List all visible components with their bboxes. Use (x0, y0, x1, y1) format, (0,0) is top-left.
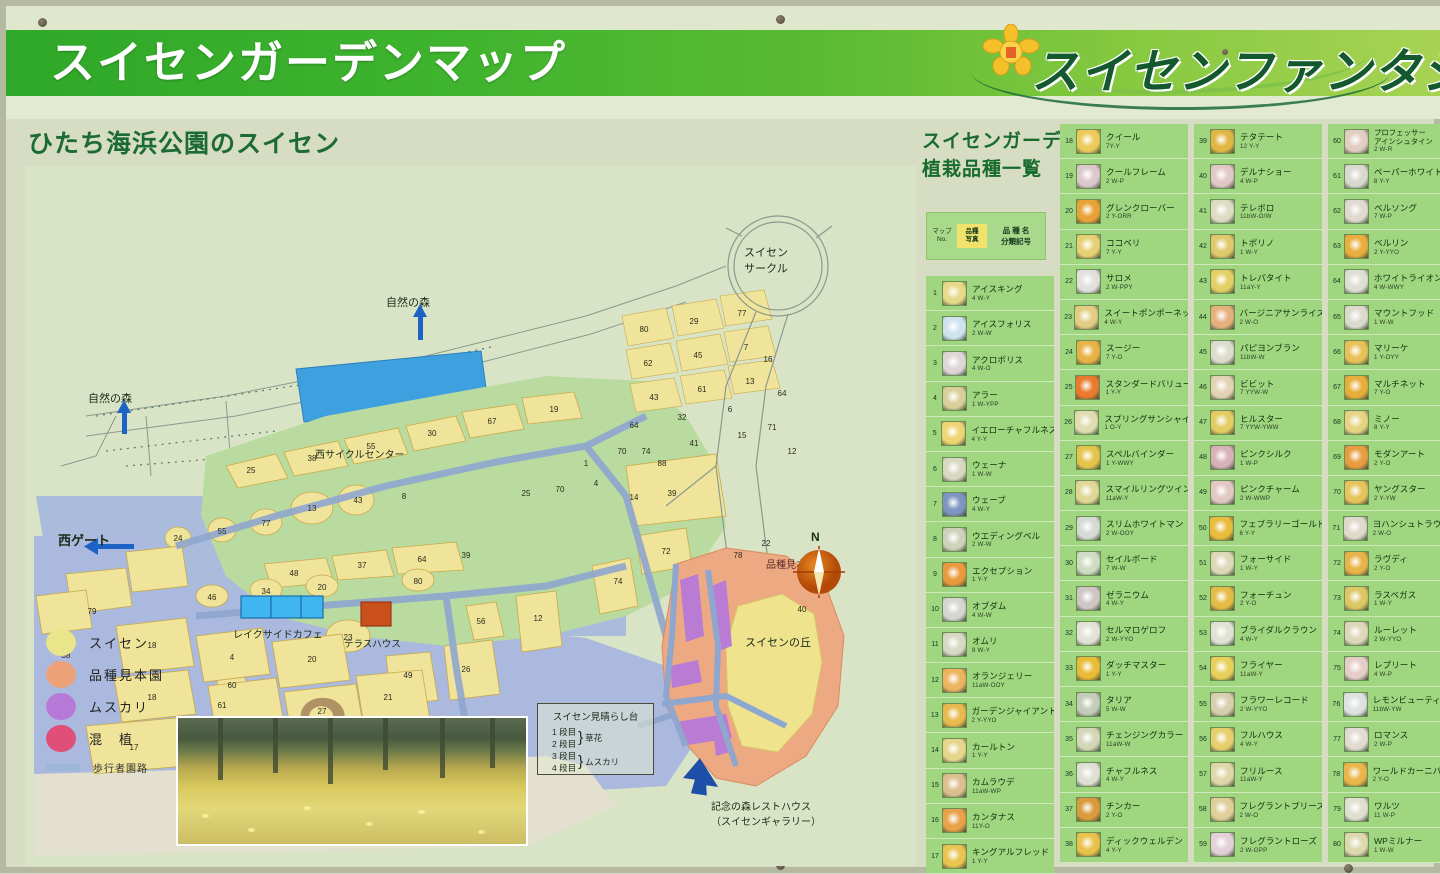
map-label-lakeside-cafe: レイクサイドカフェ (233, 626, 323, 641)
variety-photo-thumbnail (1210, 269, 1235, 294)
variety-info: フレグラントブリーズ2 W-O (1240, 801, 1323, 819)
variety-row: 67マルチネット7 Y-O (1328, 370, 1440, 405)
variety-info: スイートポンポーネット4 W-Y (1104, 308, 1188, 326)
variety-name: ディックウェルデン (1106, 836, 1183, 847)
variety-classification-code: 11aW-Y (1240, 671, 1283, 678)
map-label-terrace-house: テラスハウス (344, 636, 401, 650)
variety-classification-code: 1 W-Y (1374, 600, 1416, 607)
variety-photo-thumbnail (1076, 621, 1101, 646)
variety-info: ヨハンシュトラウス2 W-O (1373, 519, 1440, 537)
svg-text:46: 46 (208, 593, 217, 602)
variety-map-no: 1 (928, 290, 942, 297)
deck-row-label: 草花 (585, 732, 602, 744)
variety-info: ヤングスター2 Y-YW (1374, 484, 1426, 502)
variety-list-panel: スイセンガーデン 植栽品種一覧 マップNo. 品種写真 品 種 名分類記号 1ア… (918, 124, 1440, 869)
variety-photo-thumbnail (942, 844, 967, 869)
variety-row: 78ワールドカーニバル2 Y-O (1328, 757, 1440, 792)
variety-photo-thumbnail (1210, 480, 1235, 505)
variety-classification-code: 4 W-P (1374, 671, 1417, 678)
variety-map-no: 61 (1330, 173, 1344, 180)
svg-text:26: 26 (462, 665, 471, 674)
variety-classification-code: 2 W-PPY (1106, 284, 1133, 291)
variety-name: ウェーブ (972, 495, 1006, 506)
variety-photo-thumbnail (1076, 445, 1101, 470)
variety-name: ベルリン (1374, 238, 1408, 249)
variety-row: 30セイルボード7 W-W (1060, 546, 1188, 581)
variety-photo-thumbnail (1076, 199, 1101, 224)
compass-rose: N (791, 544, 847, 600)
variety-map-no: 16 (928, 817, 942, 824)
deck-step-a: 1 段目 (552, 726, 576, 738)
variety-info: チェンジングカラー11aW-W (1106, 730, 1183, 748)
svg-text:25: 25 (247, 466, 256, 475)
variety-photo-thumbnail (1076, 516, 1101, 541)
intro-heading: ひたち海浜公園のスイセン (28, 124, 608, 160)
variety-map-no: 27 (1062, 454, 1076, 461)
variety-map-no: 17 (928, 853, 942, 860)
variety-photo-thumbnail (1344, 832, 1369, 857)
variety-row: 68ミノー8 Y-Y (1328, 406, 1440, 441)
variety-classification-code: 1 Y-OYY (1374, 354, 1408, 361)
variety-map-no: 25 (1062, 384, 1075, 391)
variety-map-no: 69 (1330, 454, 1344, 461)
variety-row: 21ココベリ7 Y-Y (1060, 230, 1188, 265)
svg-text:78: 78 (734, 551, 743, 560)
variety-name: マリーケ (1374, 343, 1408, 354)
variety-map-no: 31 (1062, 595, 1076, 602)
variety-photo-thumbnail (1210, 340, 1235, 365)
variety-row: 23スイートポンポーネット4 W-Y (1060, 300, 1188, 335)
variety-photo-thumbnail (1210, 621, 1235, 646)
variety-map-no: 43 (1196, 278, 1210, 285)
svg-text:30: 30 (428, 429, 437, 438)
variety-photo-thumbnail (1344, 445, 1369, 470)
variety-row: 46ビビット7 YYW-W (1194, 370, 1322, 405)
variety-row: 4アラー1 W-YPP (926, 382, 1054, 417)
variety-row: 34タリア5 W-W (1060, 687, 1188, 722)
variety-map-no: 65 (1330, 314, 1344, 321)
north-arrow-head-icon (413, 304, 427, 317)
variety-name: ワルツ (1374, 801, 1400, 812)
variety-map-no: 2 (928, 325, 942, 332)
variety-name: フライヤー (1240, 660, 1283, 671)
variety-photo-thumbnail (1209, 516, 1234, 541)
variety-info: パピヨンブラン11bW-W (1240, 343, 1300, 361)
variety-photo-thumbnail (1210, 551, 1235, 576)
variety-name: トポリノ (1240, 238, 1274, 249)
variety-info: オムリ8 W-Y (972, 636, 998, 654)
variety-info: ベルソング7 W-P (1374, 203, 1417, 221)
garden-photo (176, 716, 528, 846)
variety-classification-code: 1 Y-Y (1106, 671, 1166, 678)
svg-text:55: 55 (218, 527, 227, 536)
variety-photo-thumbnail (1344, 129, 1369, 154)
north-arrow-stem-icon (418, 314, 423, 340)
variety-name: オムリ (972, 636, 998, 647)
variety-info: スージー7 Y-O (1106, 343, 1140, 361)
variety-photo-thumbnail (1210, 410, 1235, 435)
variety-row: 64ホワイトライオン4 W-WWY (1328, 265, 1440, 300)
svg-text:61: 61 (218, 701, 227, 710)
variety-name: ビビット (1240, 379, 1274, 390)
variety-name: フルハウス (1240, 730, 1283, 741)
variety-classification-code: 2 W-O (1240, 812, 1323, 819)
variety-info: フラワーレコード2 W-YYO (1240, 695, 1309, 713)
variety-classification-code: 2 Y-ORR (1106, 213, 1175, 220)
variety-map-no: 10 (928, 606, 942, 613)
variety-classification-code: 2 W-R (1374, 146, 1433, 153)
variety-name: デルナショー (1240, 167, 1292, 178)
deck-row: 1 段目 2 段目 } 草花 (544, 726, 647, 750)
variety-row: 50フェブラリーゴールド6 Y-Y (1194, 511, 1322, 546)
variety-row: 72ラヴディ2 Y-O (1328, 546, 1440, 581)
variety-photo-thumbnail (1344, 656, 1369, 681)
variety-classification-code: 6 Y-Y (1239, 530, 1322, 537)
variety-photo-thumbnail (1344, 234, 1369, 259)
variety-info: アイスキング4 W-Y (972, 284, 1023, 302)
variety-table-key: マップNo. 品種写真 品 種 名分類記号 (926, 212, 1046, 260)
variety-photo-thumbnail (1075, 375, 1100, 400)
variety-photo-thumbnail (1076, 797, 1101, 822)
variety-classification-code: 2 W-W (972, 330, 1031, 337)
legend-label: 歩行者園路 (93, 760, 148, 775)
svg-text:77: 77 (262, 519, 271, 528)
svg-text:71: 71 (768, 423, 777, 432)
variety-photo-thumbnail (1344, 797, 1369, 822)
svg-text:6: 6 (728, 405, 733, 414)
variety-photo-thumbnail (942, 632, 967, 657)
variety-photo-thumbnail (1210, 305, 1235, 330)
variety-classification-code: 7Y-Y (1106, 143, 1140, 150)
variety-info: スタンダードバリュー1 Y-Y (1105, 379, 1188, 397)
north-arrow-head-icon (117, 400, 131, 413)
screw-icon (38, 18, 47, 27)
variety-photo-thumbnail (1076, 832, 1101, 857)
variety-classification-code: 4 W-Y (972, 506, 1006, 513)
variety-info: タリア5 W-W (1106, 695, 1132, 713)
legend-swatch-muscari (46, 693, 76, 720)
variety-map-no: 51 (1196, 560, 1210, 567)
variety-classification-code: 2 W-P (1374, 741, 1408, 748)
deck-step-b: 2 段目 (552, 738, 576, 750)
variety-classification-code: 11aW-OOY (972, 682, 1032, 689)
variety-photo-thumbnail (1210, 797, 1235, 822)
legend-item-hinshu-mihonen: 品種見本園 (46, 658, 216, 690)
variety-classification-code: 2 W-O (1240, 319, 1323, 326)
variety-row: 8ウエディングベル2 W-W (926, 522, 1054, 557)
variety-classification-code: 4 W-Y (972, 295, 1023, 302)
variety-classification-code: 4 W-Y (1240, 636, 1317, 643)
variety-row: 56フルハウス4 W-Y (1194, 722, 1322, 757)
variety-row: 41テレボロ11bW-O/W (1194, 194, 1322, 229)
variety-map-no: 64 (1330, 278, 1344, 285)
variety-classification-code: 4 W-O (972, 365, 1023, 372)
variety-info: アラー1 W-YPP (972, 390, 999, 408)
variety-photo-thumbnail (942, 316, 967, 341)
variety-classification-code: 1 Y-Y (1105, 389, 1188, 396)
variety-row: 43トレパタイト11aY-Y (1194, 265, 1322, 300)
variety-photo-thumbnail (1076, 129, 1101, 154)
variety-info: トレパタイト11aY-Y (1240, 273, 1292, 291)
variety-name: スマイルリングツイン (1105, 484, 1188, 495)
variety-name: タリア (1106, 695, 1132, 706)
variety-photo-thumbnail (1344, 621, 1369, 646)
logo-text: スイセンファンタジー (1031, 32, 1440, 102)
variety-name: フェブラリーゴールド (1239, 519, 1322, 530)
svg-text:22: 22 (762, 539, 771, 548)
variety-classification-code: 7 Y-O (1374, 389, 1426, 396)
variety-info: プロフェッサーアインシュタイン2 W-R (1374, 129, 1433, 152)
variety-row: 9エクセプション1 Y-Y (926, 558, 1054, 593)
variety-info: ガーデンジャイアント2 Y-YYO (972, 706, 1054, 724)
variety-map-no: 45 (1196, 349, 1210, 356)
deck-title: スイセン見晴らし台 (544, 709, 647, 723)
variety-name: レモンビューティー (1373, 695, 1440, 706)
variety-map-no: 49 (1196, 489, 1210, 496)
variety-photo-thumbnail (1344, 586, 1369, 611)
variety-row: 73ラスベガス1 W-Y (1328, 581, 1440, 616)
variety-map-no: 32 (1062, 630, 1076, 637)
variety-name: アクロポリス (972, 355, 1023, 366)
variety-row: 29スリムホワイトマン2 W-OOY (1060, 511, 1188, 546)
variety-map-no: 73 (1330, 595, 1344, 602)
variety-map-no: 52 (1196, 595, 1210, 602)
variety-column-1: 1アイスキング4 W-Y2アイスフォリス2 W-W3アクロポリス4 W-O4アラ… (926, 276, 1054, 874)
legend-item-suisen: スイセン (46, 626, 216, 658)
legend-label: 混 植 (89, 729, 134, 748)
variety-photo-thumbnail (1344, 305, 1369, 330)
variety-row: 80WPミルナー1 W-W (1328, 828, 1440, 863)
svg-text:20: 20 (308, 655, 317, 664)
svg-text:48: 48 (290, 569, 299, 578)
svg-text:8: 8 (402, 492, 407, 501)
variety-photo-thumbnail (1210, 164, 1235, 189)
variety-name: スタンダードバリュー (1105, 379, 1188, 390)
variety-map-no: 26 (1062, 419, 1074, 426)
variety-classification-code: 7 YYW-YWW (1240, 424, 1283, 431)
variety-map-no: 80 (1330, 841, 1344, 848)
variety-row: 53ブライダルクラウン4 W-Y (1194, 617, 1322, 652)
variety-row: 47ヒルスター7 YYW-YWW (1194, 406, 1322, 441)
variety-info: ビビット7 YYW-W (1240, 379, 1274, 397)
variety-map-no: 78 (1330, 771, 1343, 778)
variety-classification-code: 11 W-P (1374, 812, 1400, 819)
variety-row: 65マウントフッド1 W-W (1328, 300, 1440, 335)
variety-photo-thumbnail (1343, 692, 1368, 717)
svg-text:32: 32 (678, 413, 687, 422)
variety-name: テタテート (1240, 132, 1283, 143)
variety-name: テレボロ (1240, 203, 1274, 214)
variety-row: 18クイール7Y-Y (1060, 124, 1188, 159)
variety-photo-thumbnail (942, 668, 967, 693)
legend-swatch-suisen (46, 629, 76, 656)
variety-map-no: 8 (928, 536, 942, 543)
svg-text:13: 13 (746, 377, 755, 386)
variety-column-4: 60プロフェッサーアインシュタイン2 W-R61ペーパーホワイト8 Y-Y62ベ… (1328, 124, 1440, 863)
svg-text:64: 64 (778, 389, 787, 398)
variety-classification-code: 1 W-W (1374, 847, 1422, 854)
variety-info: カンタナス11Y-O (972, 812, 1015, 830)
variety-classification-code: 7 Y-O (1106, 354, 1140, 361)
variety-photo-thumbnail (942, 703, 967, 728)
variety-info: ピンクシルク1 W-P (1240, 449, 1292, 467)
variety-map-no: 28 (1062, 489, 1075, 496)
variety-name: ペーパーホワイト (1374, 167, 1440, 178)
variety-row: 3アクロポリス4 W-O (926, 346, 1054, 381)
variety-classification-code: 2 W-YYO (1106, 636, 1166, 643)
variety-map-no: 50 (1196, 525, 1209, 532)
variety-classification-code: 2 W-OOY (1106, 530, 1183, 537)
variety-photo-thumbnail (1076, 586, 1101, 611)
variety-row: 37チンカー2 Y-O (1060, 793, 1188, 828)
variety-info: スペルバインダー1 Y-WWY (1106, 449, 1174, 467)
variety-info: レモンビューティー11bW-YW (1373, 695, 1440, 713)
variety-name: ヒルスター (1240, 414, 1283, 425)
variety-photo-thumbnail (1210, 692, 1235, 717)
variety-classification-code: 1 Y-Y (972, 858, 1049, 865)
variety-row: 1アイスキング4 W-Y (926, 276, 1054, 311)
variety-column-2: 18クイール7Y-Y19クールフレーム2 W-P20グレンクローバー2 Y-OR… (1060, 124, 1188, 863)
variety-name: クールフレーム (1106, 167, 1166, 178)
variety-photo-thumbnail (1210, 656, 1235, 681)
variety-info: ピンクチャーム2 W-WWP (1240, 484, 1300, 502)
variety-name: キングアルフレッド (972, 847, 1049, 858)
sign-board: スイセンガーデンマップ スイセンファンタジー ひたち海浜公園のスイセン ひたち海… (0, 0, 1440, 873)
variety-photo-thumbnail (1344, 340, 1369, 365)
variety-info: ウェーナ1 W-W (972, 460, 1006, 478)
variety-name: ロマンス (1374, 730, 1408, 741)
variety-info: カールトン1 Y-Y (972, 742, 1015, 760)
variety-photo-thumbnail (942, 281, 967, 306)
svg-text:61: 61 (698, 385, 707, 394)
variety-row: 61ペーパーホワイト8 Y-Y (1328, 159, 1440, 194)
variety-photo-thumbnail (942, 562, 967, 587)
variety-row: 58フレグラントブリーズ2 W-O (1194, 793, 1322, 828)
variety-map-no: 18 (1062, 138, 1076, 145)
variety-classification-code: 2 W-P (1106, 178, 1166, 185)
variety-photo-thumbnail (1210, 832, 1235, 857)
svg-text:4: 4 (230, 653, 235, 662)
variety-map-no: 55 (1196, 701, 1210, 708)
variety-photo-thumbnail (1344, 551, 1369, 576)
variety-map-no: 21 (1062, 243, 1076, 250)
variety-photo-thumbnail (942, 597, 967, 622)
variety-map-no: 19 (1062, 173, 1076, 180)
variety-classification-code: 11aW-Y (1105, 495, 1188, 502)
variety-classification-code: 7 W-W (1106, 565, 1158, 572)
variety-photo-thumbnail (941, 421, 966, 446)
variety-info: マリーケ1 Y-OYY (1374, 343, 1408, 361)
variety-row: 20グレンクローバー2 Y-ORR (1060, 194, 1188, 229)
variety-classification-code: 11aW-W (1106, 741, 1183, 748)
variety-name: ワールドカーニバル (1373, 766, 1440, 777)
variety-map-no: 7 (928, 501, 942, 508)
variety-name: ゼラニウム (1106, 590, 1149, 601)
variety-map-no: 23 (1062, 314, 1074, 321)
variety-row: 12オランジェリー11aW-OOY (926, 663, 1054, 698)
variety-row: 27スペルバインダー1 Y-WWY (1060, 441, 1188, 476)
variety-info: アイスフォリス2 W-W (972, 319, 1031, 337)
variety-photo-thumbnail (1076, 727, 1101, 752)
variety-row: 59フレグラントローズ2 W-GPP (1194, 828, 1322, 863)
variety-row: 10オブダム4 W-W (926, 593, 1054, 628)
variety-info: クールフレーム2 W-P (1106, 167, 1166, 185)
variety-photo-thumbnail (1076, 762, 1101, 787)
variety-panel-heading: スイセンガーデン 植栽品種一覧 (922, 128, 1082, 183)
variety-name: プロフェッサーアインシュタイン (1374, 129, 1433, 145)
variety-classification-code: 4 W-P (1240, 178, 1292, 185)
variety-classification-code: 2 Y-YYO (1374, 249, 1408, 256)
variety-photo-thumbnail (1076, 164, 1101, 189)
variety-name: フラワーレコード (1240, 695, 1309, 706)
variety-map-no: 38 (1062, 841, 1076, 848)
variety-classification-code: 4 W-Y (1106, 776, 1157, 783)
variety-classification-code: 8 Y-Y (1374, 424, 1400, 431)
svg-text:20: 20 (318, 583, 327, 592)
variety-row: 40デルナショー4 W-P (1194, 159, 1322, 194)
variety-name: スプリングサンシャイン (1104, 414, 1188, 425)
variety-row: 51フォーサイド1 W-Y (1194, 546, 1322, 581)
variety-info: セイルボード7 W-W (1106, 554, 1158, 572)
variety-photo-thumbnail (1210, 234, 1235, 259)
variety-photo-thumbnail (1210, 199, 1235, 224)
variety-row: 39テタテート12 Y-Y (1194, 124, 1322, 159)
variety-name: パピヨンブラン (1240, 343, 1300, 354)
variety-info: ワルツ11 W-P (1374, 801, 1400, 819)
variety-map-no: 58 (1196, 806, 1210, 813)
svg-text:49: 49 (404, 671, 413, 680)
legend-label: スイセン (89, 633, 149, 652)
variety-info: ヒルスター7 YYW-YWW (1240, 414, 1283, 432)
variety-row: 32セルマロゲロフ2 W-YYO (1060, 617, 1188, 652)
variety-map-no: 29 (1062, 525, 1076, 532)
variety-photo-thumbnail (1074, 410, 1099, 435)
variety-name: オランジェリー (972, 671, 1032, 682)
variety-map-no: 63 (1330, 243, 1344, 250)
variety-map-no: 47 (1196, 419, 1210, 426)
variety-name: アイスキング (972, 284, 1023, 295)
svg-text:60: 60 (228, 681, 237, 690)
variety-name: ウエディングベル (972, 531, 1040, 542)
variety-info: カムラウデ11aW-WP (972, 777, 1015, 795)
variety-row: 76レモンビューティー11bW-YW (1328, 687, 1440, 722)
variety-map-no: 56 (1196, 736, 1210, 743)
variety-info: ゼラニウム4 W-Y (1106, 590, 1149, 608)
variety-map-no: 77 (1330, 736, 1344, 743)
variety-map-no: 6 (928, 466, 942, 473)
variety-name: グレンクローバー (1106, 203, 1175, 214)
variety-info: エクセプション1 Y-Y (972, 566, 1032, 584)
variety-row: 54フライヤー11aW-Y (1194, 652, 1322, 687)
variety-name: カールトン (972, 742, 1015, 753)
variety-row: 62ベルソング7 W-P (1328, 194, 1440, 229)
variety-info: イエローチャフルネス4 Y-Y (971, 425, 1054, 443)
variety-map-no: 15 (928, 782, 942, 789)
variety-classification-code: 4 W-W (972, 612, 1006, 619)
variety-row: 49ピンクチャーム2 W-WWP (1194, 476, 1322, 511)
variety-classification-code: 2 Y-O (1106, 812, 1140, 819)
variety-row: 22サロメ2 W-PPY (1060, 265, 1188, 300)
svg-text:1: 1 (584, 459, 589, 468)
variety-map-no: 41 (1196, 208, 1210, 215)
variety-name: マルチネット (1374, 379, 1426, 390)
svg-text:62: 62 (644, 359, 653, 368)
variety-classification-code: 2 Y-O (1374, 460, 1425, 467)
screw-icon (1222, 49, 1228, 55)
variety-info: スマイルリングツイン11aW-Y (1105, 484, 1188, 502)
variety-photo-thumbnail (1076, 551, 1101, 576)
variety-photo-thumbnail (1076, 269, 1101, 294)
